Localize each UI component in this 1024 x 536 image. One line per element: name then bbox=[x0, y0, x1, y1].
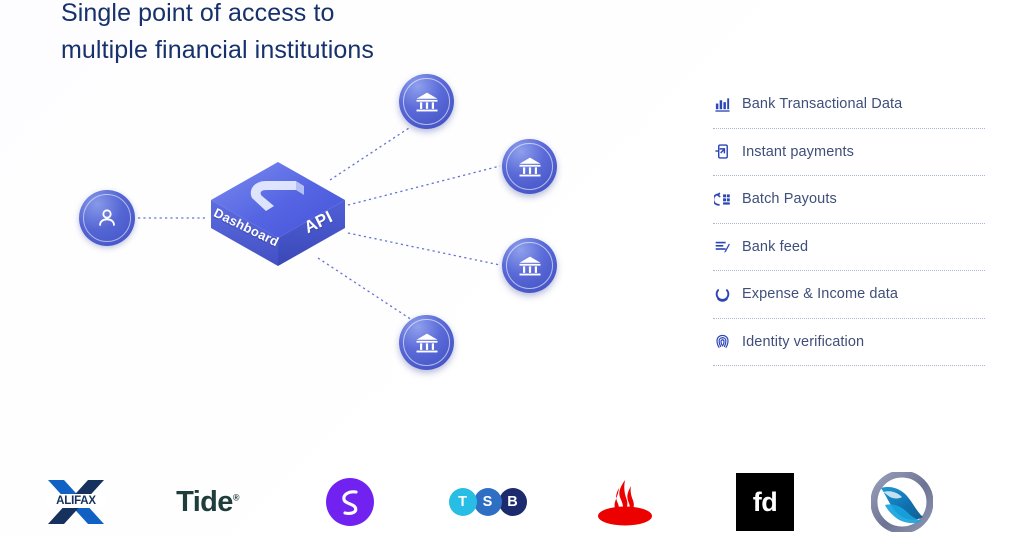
user-icon bbox=[94, 205, 120, 231]
fd-wordmark: fd bbox=[753, 487, 777, 518]
fingerprint-icon bbox=[713, 333, 731, 351]
feature-label: Instant payments bbox=[742, 144, 854, 160]
tsb-letter: T bbox=[449, 488, 477, 516]
tsb-letter: S bbox=[474, 488, 502, 516]
dashboard-api-hub[interactable]: Dashboard API bbox=[208, 148, 348, 270]
bank-icon bbox=[413, 88, 441, 116]
bank-icon bbox=[516, 153, 544, 181]
feature-list: Bank Transactional Data Instant payments bbox=[713, 81, 985, 366]
batch-payout-icon bbox=[713, 190, 731, 208]
feature-item-bank-transactional-data[interactable]: Bank Transactional Data bbox=[713, 81, 985, 129]
feature-item-identity-verification[interactable]: Identity verification bbox=[713, 319, 985, 367]
feature-item-batch-payouts[interactable]: Batch Payouts bbox=[713, 176, 985, 224]
mobile-send-icon bbox=[713, 143, 731, 161]
bar-chart-icon bbox=[713, 95, 731, 113]
feature-item-bank-feed[interactable]: Bank feed bbox=[713, 224, 985, 272]
user-node[interactable] bbox=[79, 190, 135, 246]
tsb-letter: B bbox=[499, 488, 527, 516]
logo-tsb[interactable]: T S B bbox=[440, 468, 535, 536]
barclays-eagle-logo bbox=[871, 472, 933, 532]
feature-label: Bank Transactional Data bbox=[742, 96, 902, 112]
bank-icon bbox=[413, 329, 441, 357]
tide-logo: Tide® bbox=[176, 486, 239, 519]
logo-starling-bank[interactable] bbox=[310, 468, 390, 536]
logo-alifax[interactable]: ALIFAX bbox=[30, 468, 122, 536]
bank-node[interactable] bbox=[502, 139, 557, 194]
santander-flame-logo bbox=[594, 476, 656, 528]
feature-label: Expense & Income data bbox=[742, 286, 898, 302]
isometric-box-icon bbox=[208, 148, 348, 270]
bank-icon bbox=[516, 252, 544, 280]
alifax-wordmark: ALIFAX bbox=[46, 494, 106, 508]
tide-wordmark: Tide bbox=[176, 486, 233, 518]
feature-item-expense-income-data[interactable]: Expense & Income data bbox=[713, 271, 985, 319]
feature-item-instant-payments[interactable]: Instant payments bbox=[713, 129, 985, 177]
alifax-logo: ALIFAX bbox=[46, 477, 106, 527]
first-direct-logo: fd bbox=[736, 473, 794, 531]
feature-label: Identity verification bbox=[742, 334, 864, 350]
logo-barclays[interactable] bbox=[862, 468, 942, 536]
refresh-circle-icon bbox=[713, 285, 731, 303]
bank-node[interactable] bbox=[502, 238, 557, 293]
feature-label: Bank feed bbox=[742, 239, 808, 255]
bank-node[interactable] bbox=[399, 74, 454, 129]
tsb-logo: T S B bbox=[449, 488, 527, 516]
logo-santander[interactable] bbox=[580, 468, 670, 536]
architecture-diagram: Dashboard API bbox=[0, 0, 700, 400]
starling-logo bbox=[326, 478, 374, 526]
logo-first-direct[interactable]: fd bbox=[730, 468, 800, 536]
logo-tide[interactable]: Tide® bbox=[160, 468, 255, 536]
feature-label: Batch Payouts bbox=[742, 191, 837, 207]
partner-logo-strip: ALIFAX Tide® T S B fd bbox=[0, 468, 1024, 536]
bank-feed-icon bbox=[713, 238, 731, 256]
bank-node[interactable] bbox=[399, 315, 454, 370]
